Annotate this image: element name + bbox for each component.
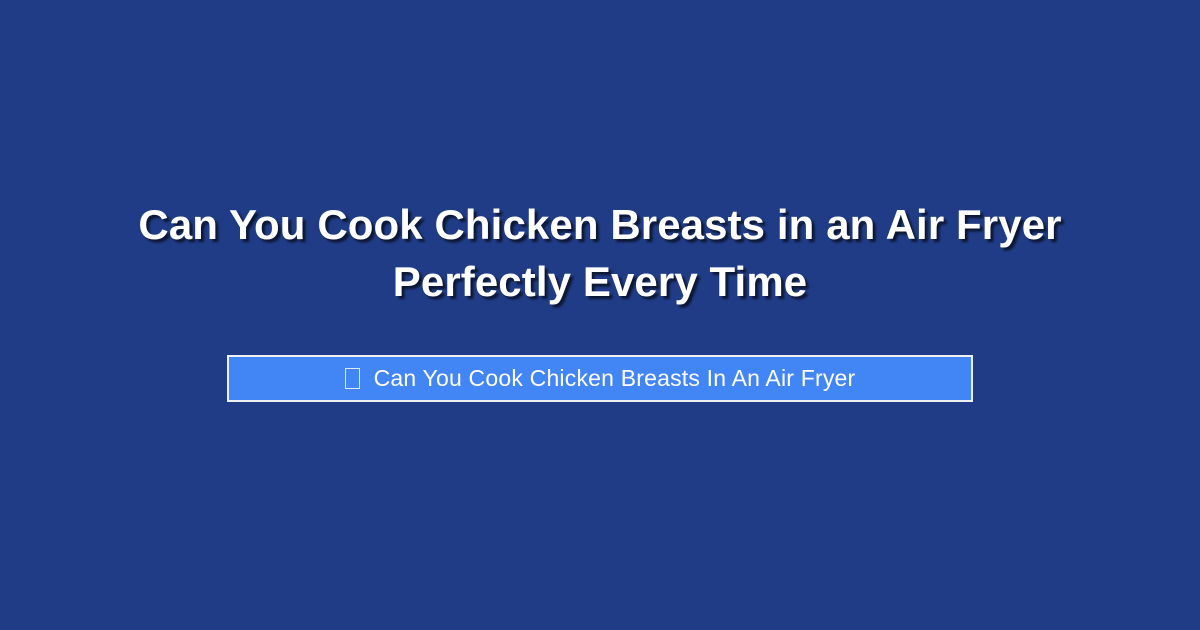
missing-glyph-box-icon (345, 368, 360, 389)
share-card: Can You Cook Chicken Breasts in an Air F… (0, 0, 1200, 630)
page-title: Can You Cook Chicken Breasts in an Air F… (0, 196, 1200, 310)
share-badge-label: Can You Cook Chicken Breasts In An Air F… (374, 367, 856, 390)
share-badge-button[interactable]: Can You Cook Chicken Breasts In An Air F… (227, 355, 973, 402)
badge-row: Can You Cook Chicken Breasts In An Air F… (0, 355, 1200, 402)
title-block: Can You Cook Chicken Breasts in an Air F… (0, 196, 1200, 310)
